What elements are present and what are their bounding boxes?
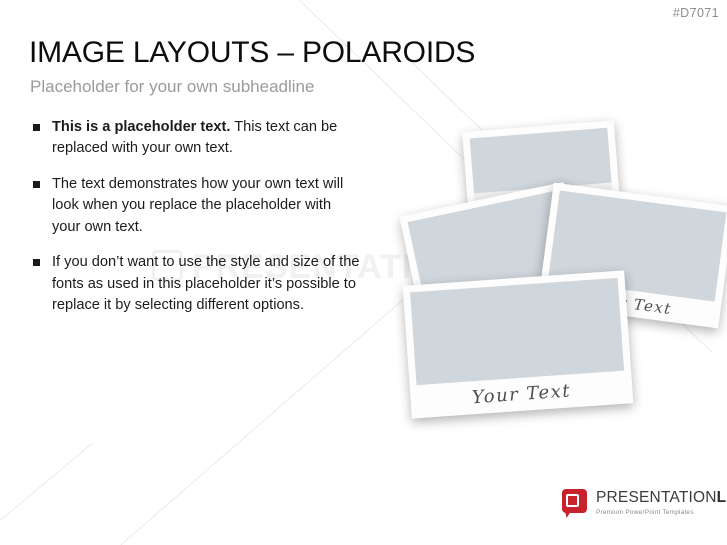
slide-canvas: #D7071 IMAGE LAYOUTS – POLAROIDS Placeho… xyxy=(0,0,727,545)
page-title: IMAGE LAYOUTS – POLAROIDS xyxy=(29,36,475,70)
presentationload-logo: PRESENTATIONLOAD® Premium PowerPoint Tem… xyxy=(562,489,727,517)
speech-bubble-tail xyxy=(565,510,572,518)
logo-text-block: PRESENTATIONLOAD® Premium PowerPoint Tem… xyxy=(596,490,727,516)
polaroid-frame-meeting[interactable]: Your Text xyxy=(403,270,634,418)
list-item-body: If you don’t want to use the style and s… xyxy=(52,254,359,313)
bullet-square-icon xyxy=(33,259,40,266)
list-item-text: This is a placeholder text. This text ca… xyxy=(52,117,363,160)
bullet-square-icon xyxy=(33,124,40,131)
logo-wordmark: PRESENTATIONLOAD® xyxy=(596,490,727,506)
page-subtitle: Placeholder for your own subheadline xyxy=(30,77,314,97)
list-item: This is a placeholder text. This text ca… xyxy=(33,117,363,160)
logo-word-light: PRESENTATION xyxy=(596,489,717,506)
list-item: The text demonstrates how your own text … xyxy=(33,174,363,238)
speech-bubble-body xyxy=(562,489,587,513)
polaroid-caption[interactable]: Your Text xyxy=(417,379,626,411)
polaroid-image-group: Your Text Your Text Your Text Your Text xyxy=(398,126,727,406)
photo-people-at-table-overhead[interactable] xyxy=(410,278,624,385)
list-item-lead: This is a placeholder text. xyxy=(52,119,230,135)
background-diagonal-line xyxy=(0,443,93,521)
logo-word-bold: LOAD xyxy=(717,489,727,506)
template-code-id: #D7071 xyxy=(673,6,719,20)
list-item: If you don’t want to use the style and s… xyxy=(33,252,363,316)
bullet-square-icon xyxy=(33,181,40,188)
speech-bubble-icon xyxy=(562,489,587,517)
list-item-body: The text demonstrates how your own text … xyxy=(52,176,343,235)
logo-tagline: Premium PowerPoint Templates xyxy=(596,509,727,516)
bullet-list: This is a placeholder text. This text ca… xyxy=(33,117,363,331)
list-item-text: If you don’t want to use the style and s… xyxy=(52,252,363,316)
list-item-text: The text demonstrates how your own text … xyxy=(52,174,363,238)
